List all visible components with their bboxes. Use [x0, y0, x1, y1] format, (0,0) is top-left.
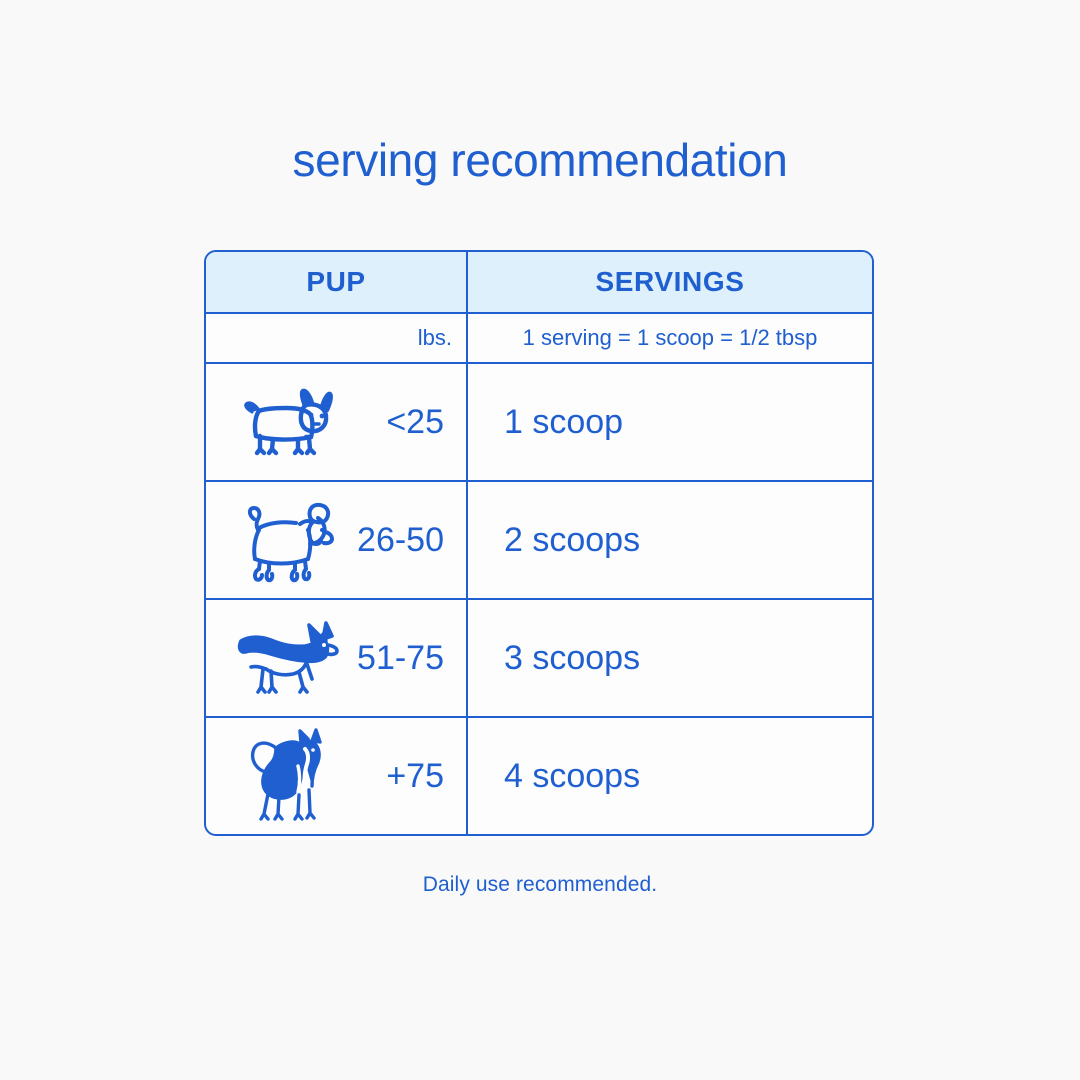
- serving-table: PUP SERVINGS lbs. 1 serving = 1 scoop = …: [204, 250, 874, 836]
- header-cell-pup: PUP: [206, 252, 468, 312]
- page-title: serving recommendation: [0, 133, 1080, 188]
- servings-cell: 2 scoops: [468, 482, 872, 598]
- servings-cell: 1 scoop: [468, 364, 872, 480]
- servings-value: 1 scoop: [504, 403, 623, 442]
- pup-weight-value: +75: [352, 757, 466, 796]
- pup-weight-value: 26-50: [352, 521, 466, 560]
- poodle-dog-icon: [224, 497, 352, 583]
- units-cell-pup: lbs.: [206, 314, 468, 362]
- servings-cell: 4 scoops: [468, 718, 872, 834]
- header-label-servings: SERVINGS: [596, 266, 745, 298]
- units-label-serving-equivalence: 1 serving = 1 scoop = 1/2 tbsp: [523, 325, 818, 351]
- shepherd-dog-icon: [224, 617, 352, 699]
- table-row: <25 1 scoop: [206, 364, 872, 482]
- footer-note: Daily use recommended.: [0, 873, 1080, 897]
- servings-cell: 3 scoops: [468, 600, 872, 716]
- table-row: +75 4 scoops: [206, 718, 872, 834]
- husky-dog-icon: [224, 726, 352, 826]
- pup-weight-value: <25: [352, 403, 466, 442]
- header-label-pup: PUP: [306, 266, 365, 298]
- pup-cell: +75: [206, 718, 468, 834]
- servings-value: 2 scoops: [504, 521, 640, 560]
- servings-value: 3 scoops: [504, 639, 640, 678]
- pup-cell: 51-75: [206, 600, 468, 716]
- serving-recommendation-card: serving recommendation PUP SERVINGS lbs.…: [0, 0, 1080, 1080]
- pup-cell: <25: [206, 364, 468, 480]
- small-dog-icon: [224, 385, 352, 459]
- table-row: 51-75 3 scoops: [206, 600, 872, 718]
- pup-cell: 26-50: [206, 482, 468, 598]
- units-label-lbs: lbs.: [418, 325, 452, 351]
- table-row: 26-50 2 scoops: [206, 482, 872, 600]
- servings-value: 4 scoops: [504, 757, 640, 796]
- pup-weight-value: 51-75: [352, 639, 466, 678]
- table-units-row: lbs. 1 serving = 1 scoop = 1/2 tbsp: [206, 314, 872, 364]
- units-cell-servings: 1 serving = 1 scoop = 1/2 tbsp: [468, 314, 872, 362]
- table-header-row: PUP SERVINGS: [206, 252, 872, 314]
- header-cell-servings: SERVINGS: [468, 252, 872, 312]
